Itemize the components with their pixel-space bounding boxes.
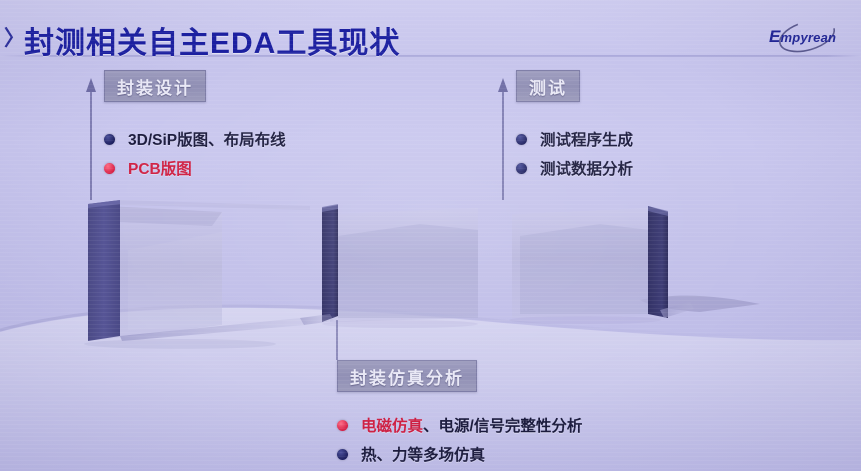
- bullet-dot-icon: [104, 163, 115, 174]
- bullet-list-package-design: 3D/SiP版图、布局布线 PCB版图: [104, 128, 286, 186]
- bullet-dot-icon: [337, 449, 348, 460]
- logo-wordmark: Empyrean: [769, 27, 836, 47]
- section-header-package-design: 封装设计: [104, 70, 206, 102]
- list-item: 电磁仿真、电源/信号完整性分析: [337, 414, 582, 436]
- bullet-text: 电磁仿真、电源/信号完整性分析: [361, 414, 582, 436]
- section-header-test: 测试: [516, 70, 580, 102]
- presentation-slide: 〉 封测相关自主EDA工具现状 Empyrean 封装设计 3D/SiP版图、布…: [0, 0, 861, 471]
- bullet-text: PCB版图: [128, 157, 192, 179]
- list-item: 3D/SiP版图、布局布线: [104, 128, 286, 150]
- empyrean-logo: Empyrean: [753, 14, 849, 60]
- bullet-list-test: 测试程序生成 测试数据分析: [516, 128, 633, 186]
- list-item: 测试数据分析: [516, 157, 633, 179]
- bullet-dot-icon: [516, 163, 527, 174]
- list-item: PCB版图: [104, 157, 286, 179]
- bullet-list-package-simulation: 电磁仿真、电源/信号完整性分析 热、力等多场仿真: [337, 414, 582, 471]
- logo-rest: mpyrean: [781, 30, 837, 45]
- bullet-text: 热、力等多场仿真: [361, 443, 485, 465]
- bullet-dot-icon: [104, 134, 115, 145]
- list-item: 热、力等多场仿真: [337, 443, 582, 465]
- list-item: 测试程序生成: [516, 128, 633, 150]
- bullet-text-part: 、电源/信号完整性分析: [423, 418, 582, 435]
- bullet-text: 测试程序生成: [540, 128, 633, 150]
- bullet-dot-icon: [337, 420, 348, 431]
- bullet-text: 测试数据分析: [540, 157, 633, 179]
- title-chevron-icon: 〉: [4, 28, 25, 49]
- bullet-dot-icon: [516, 134, 527, 145]
- section-header-package-simulation: 封装仿真分析: [337, 360, 477, 392]
- bullet-text: 3D/SiP版图、布局布线: [128, 128, 286, 150]
- bullet-text-part-highlight: 电磁仿真: [361, 418, 423, 435]
- logo-initial: E: [769, 27, 781, 46]
- page-title: 封测相关自主EDA工具现状: [24, 18, 400, 62]
- slide-header: 〉 封测相关自主EDA工具现状: [0, 6, 861, 58]
